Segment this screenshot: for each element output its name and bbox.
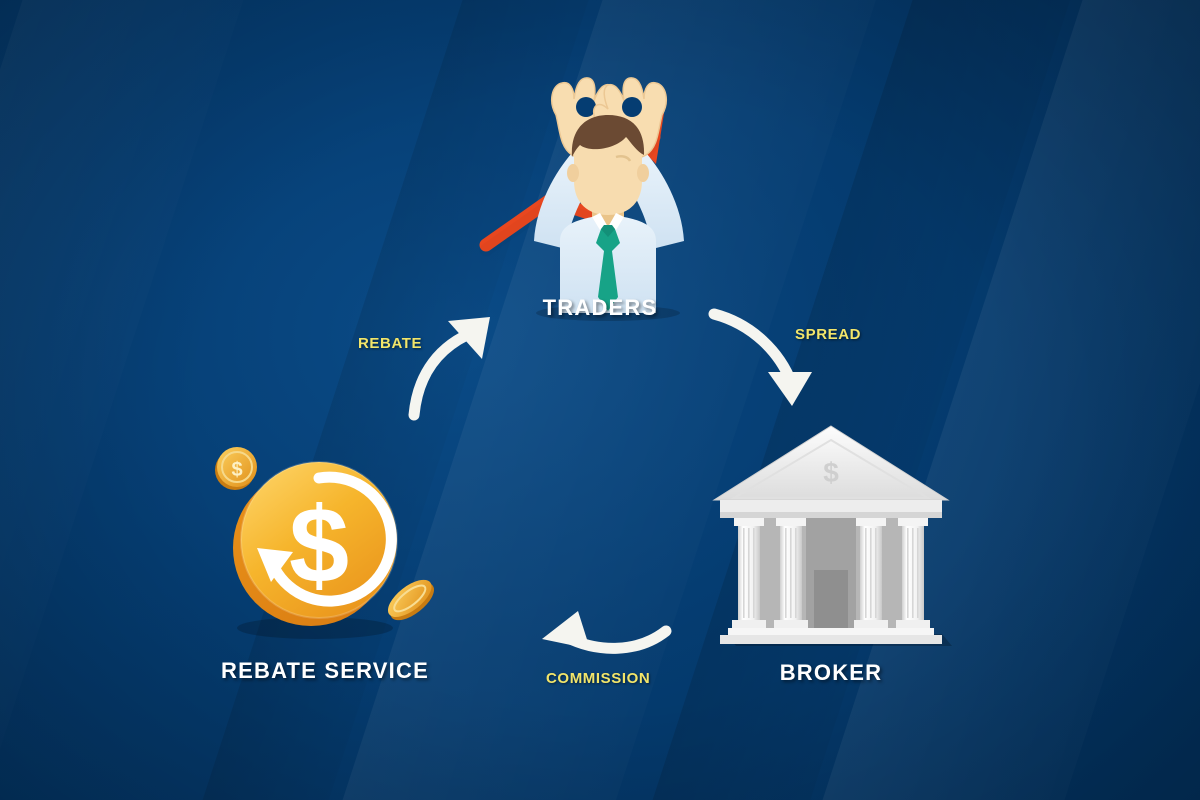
node-label-rebate-service: REBATE SERVICE [205, 658, 445, 684]
diagram-canvas: % [0, 0, 1200, 800]
coin-dollar-symbol: $ [289, 484, 349, 605]
flow-label-commission: COMMISSION [546, 670, 650, 687]
node-broker[interactable]: $ [700, 420, 962, 710]
svg-text:$: $ [231, 459, 242, 481]
curved-arrow-up-right-icon [400, 315, 510, 425]
flow-spread: SPREAD [700, 300, 900, 410]
node-rebate-service[interactable]: $ $ REBATE SERVICE [205, 430, 445, 710]
trader-person-icon: % [440, 45, 760, 320]
node-label-broker: BROKER [700, 660, 962, 686]
small-coin-right-icon [382, 573, 440, 627]
bank-building-icon: $ [700, 420, 962, 650]
curved-arrow-down-right-icon [700, 300, 840, 410]
gold-coin-dollar-icon: $ $ [205, 430, 445, 650]
flow-label-rebate: REBATE [358, 335, 422, 352]
flow-label-spread: SPREAD [795, 326, 861, 343]
small-coin-left-icon: $ [215, 447, 257, 490]
curved-arrow-left-icon [520, 595, 680, 665]
flow-commission: COMMISSION [520, 595, 720, 705]
bank-pediment-dollar-icon: $ [823, 457, 839, 488]
flow-rebate: REBATE [400, 315, 600, 435]
